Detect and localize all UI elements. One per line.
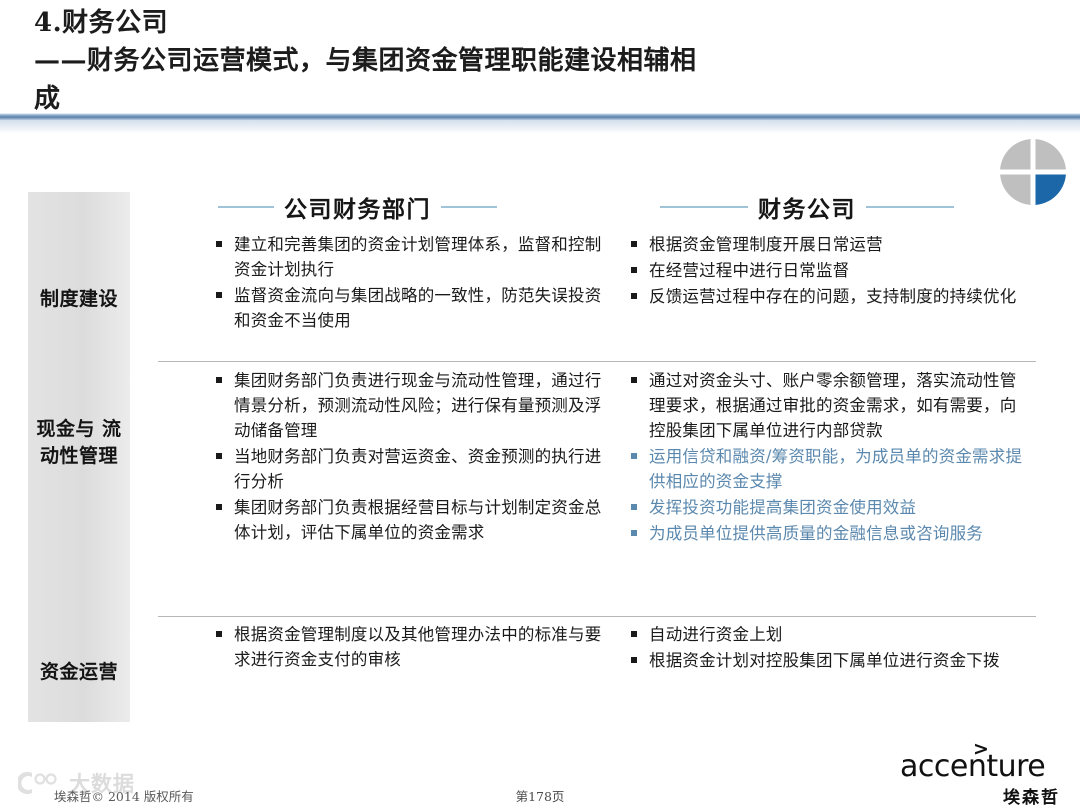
bullet-item: 集团财务部门负责根据经营目标与计划制定资金总体计划，评估下属单位的资金需求 — [213, 495, 605, 545]
accenture-wordmark: accenture > — [900, 752, 1060, 782]
bullet-item: 监督资金流向与集团战略的一致性，防范失误投资和资金不当使用 — [213, 283, 605, 333]
bullet-item: 运用信贷和融资/筹资职能，为成员单的资金需求提供相应的资金支撑 — [628, 444, 1028, 494]
row-label: 资金运营 — [28, 659, 130, 686]
column-header-left: 公司财务部门 — [218, 190, 497, 224]
table-row: 制度建设 建立和完善集团的资金计划管理体系，监督和控制资金计划执行监督资金流向与… — [28, 232, 1038, 362]
row-cell-right: 通过对资金头寸、账户零余额管理，落实流动性管理要求，根据通过审批的资金需求，如有… — [628, 368, 1028, 547]
header-rule-right — [441, 206, 497, 208]
title-line-1: 4.财务公司 — [34, 4, 934, 42]
bullet-list: 集团财务部门负责进行现金与流动性管理，通过行情景分析，预测流动性风险；进行保有量… — [213, 368, 605, 545]
bullet-list: 根据资金管理制度以及其他管理办法中的标准与要求进行资金支付的审核 — [213, 622, 605, 672]
header-rule-right — [866, 206, 954, 208]
title-line-2: ——财务公司运营模式，与集团资金管理职能建设相辅相 — [34, 42, 934, 80]
header-divider-shadow — [0, 120, 1080, 134]
row-cell-left: 根据资金管理制度以及其他管理办法中的标准与要求进行资金支付的审核 — [213, 622, 605, 673]
table-row: 现金与 流动性管理 集团财务部门负责进行现金与流动性管理，通过行情景分析，预测流… — [28, 368, 1038, 616]
row-separator — [158, 616, 1036, 617]
header-rule-left — [660, 206, 748, 208]
quadrant-circle-logo — [1000, 139, 1066, 205]
bullet-item: 发挥投资功能提高集团资金使用效益 — [628, 495, 1028, 520]
column-header-right-label: 财务公司 — [758, 190, 856, 224]
column-header-right: 财务公司 — [660, 190, 954, 224]
accenture-logo: accenture > 埃森哲 — [900, 752, 1060, 804]
bullet-list: 自动进行资金上划根据资金计划对控股集团下属单位进行资金下拨 — [628, 622, 1028, 673]
bullet-item: 根据资金管理制度以及其他管理办法中的标准与要求进行资金支付的审核 — [213, 622, 605, 672]
row-cell-right: 自动进行资金上划根据资金计划对控股集团下属单位进行资金下拨 — [628, 622, 1028, 674]
bullet-list: 根据资金管理制度开展日常运营在经营过程中进行日常监督反馈运营过程中存在的问题，支… — [628, 232, 1028, 309]
bullet-item: 集团财务部门负责进行现金与流动性管理，通过行情景分析，预测流动性风险；进行保有量… — [213, 368, 605, 443]
header-rule-left — [218, 206, 274, 208]
bullet-item: 在经营过程中进行日常监督 — [628, 258, 1028, 283]
row-label: 制度建设 — [28, 286, 130, 313]
bullet-item: 根据资金计划对控股集团下属单位进行资金下拨 — [628, 648, 1028, 673]
bullet-item: 建立和完善集团的资金计划管理体系，监督和控制资金计划执行 — [213, 232, 605, 282]
bullet-item: 通过对资金头寸、账户零余额管理，落实流动性管理要求，根据通过审批的资金需求，如有… — [628, 368, 1028, 443]
bullet-list: 通过对资金头寸、账户零余额管理，落实流动性管理要求，根据通过审批的资金需求，如有… — [628, 368, 1028, 546]
bullet-item: 为成员单位提供高质量的金融信息或咨询服务 — [628, 521, 1028, 546]
page-title: 4.财务公司 ——财务公司运营模式，与集团资金管理职能建设相辅相 成 — [34, 4, 934, 118]
bullet-item: 根据资金管理制度开展日常运营 — [628, 232, 1028, 257]
accenture-caret-icon: > — [973, 740, 988, 759]
table-row: 资金运营 根据资金管理制度以及其他管理办法中的标准与要求进行资金支付的审核 自动… — [28, 622, 1038, 727]
row-cell-left: 集团财务部门负责进行现金与流动性管理，通过行情景分析，预测流动性风险；进行保有量… — [213, 368, 605, 546]
bullet-list: 建立和完善集团的资金计划管理体系，监督和控制资金计划执行监督资金流向与集团战略的… — [213, 232, 605, 333]
bullet-item: 自动进行资金上划 — [628, 622, 1028, 647]
bullet-item: 当地财务部门负责对营运资金、资金预测的执行进行分析 — [213, 444, 605, 494]
header-divider-bar — [0, 113, 1080, 120]
accenture-chinese-name: 埃森哲 — [1003, 783, 1060, 808]
row-cell-right: 根据资金管理制度开展日常运营在经营过程中进行日常监督反馈运营过程中存在的问题，支… — [628, 232, 1028, 310]
bullet-item: 反馈运营过程中存在的问题，支持制度的持续优化 — [628, 284, 1028, 309]
column-header-left-label: 公司财务部门 — [284, 190, 431, 224]
row-cell-left: 建立和完善集团的资金计划管理体系，监督和控制资金计划执行监督资金流向与集团战略的… — [213, 232, 605, 334]
row-label: 现金与 流动性管理 — [28, 416, 130, 470]
